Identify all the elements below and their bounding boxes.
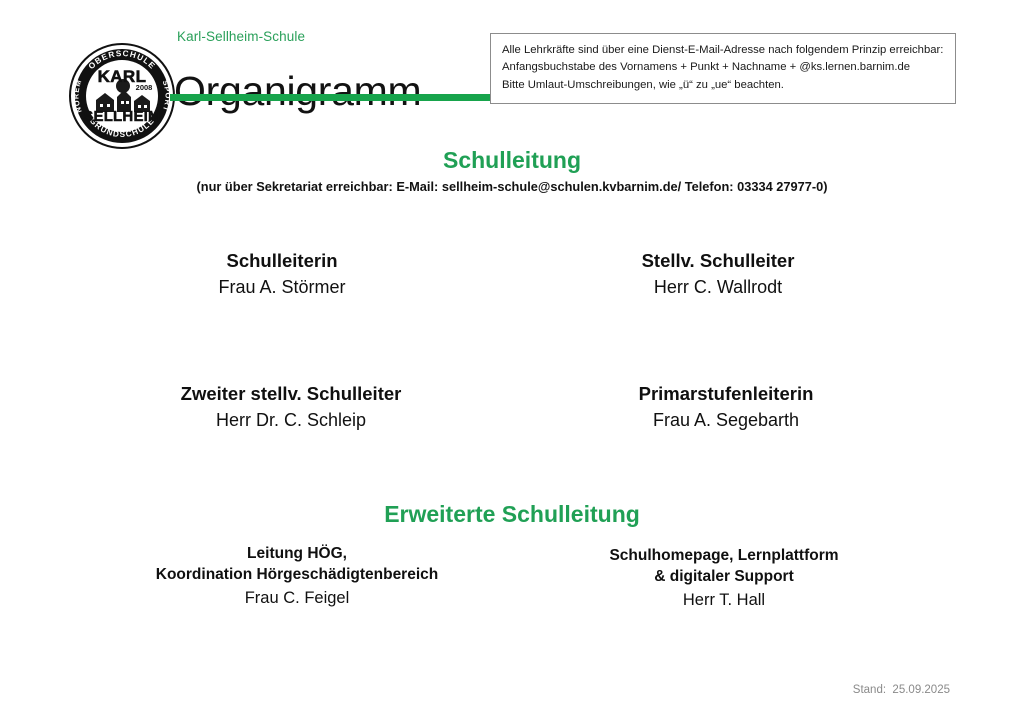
role-person: Frau C. Feigel xyxy=(156,587,438,609)
role-title: Primarstufenleiterin xyxy=(639,383,814,405)
page-title: Organigramm xyxy=(174,71,421,112)
role-title: Schulleiterin xyxy=(218,250,345,272)
role-person: Herr T. Hall xyxy=(609,589,838,611)
info-line-3: Bitte Umlaut-Umschreibungen, wie „ü“ zu … xyxy=(502,77,944,94)
role-title-line-1: Leitung HÖG, xyxy=(156,544,438,565)
schulleitung-contact-line: (nur über Sekretariat erreichbar: E-Mail… xyxy=(0,179,1024,194)
organigramm-page: OBERSCHULE GRUNDSCHULE NOREM SPORT xyxy=(0,0,1024,724)
role-stellv-schulleiter: Stellv. Schulleiter Herr C. Wallrodt xyxy=(642,250,795,299)
role-person: Herr Dr. C. Schleip xyxy=(181,408,402,432)
email-convention-info-box: Alle Lehrkräfte sind über eine Dienst-E-… xyxy=(490,33,956,104)
role-zweiter-stellv-schulleiter: Zweiter stellv. Schulleiter Herr Dr. C. … xyxy=(181,383,402,432)
school-name: Karl-Sellheim-Schule xyxy=(177,29,305,44)
role-title: Stellv. Schulleiter xyxy=(642,250,795,272)
school-seal-logo: OBERSCHULE GRUNDSCHULE NOREM SPORT xyxy=(68,42,176,150)
role-title-line-2: Koordination Hörgeschädigtenbereich xyxy=(156,565,438,586)
role-schulhomepage-support: Schulhomepage, Lernplattform & digitaler… xyxy=(609,546,838,611)
info-line-2: Anfangsbuchstabe des Vornamens + Punkt +… xyxy=(502,59,944,76)
role-leitung-hoeg: Leitung HÖG, Koordination Hörgeschädigte… xyxy=(156,544,438,609)
info-line-1: Alle Lehrkräfte sind über eine Dienst-E-… xyxy=(502,42,944,59)
role-title: Zweiter stellv. Schulleiter xyxy=(181,383,402,405)
role-title-line-1: Schulhomepage, Lernplattform xyxy=(609,546,838,567)
role-title-line-2: & digitaler Support xyxy=(609,567,838,588)
section-heading-erweiterte-schulleitung: Erweiterte Schulleitung xyxy=(0,501,1024,528)
role-schulleiterin: Schulleiterin Frau A. Störmer xyxy=(218,250,345,299)
role-person: Frau A. Segebarth xyxy=(639,408,814,432)
section-heading-schulleitung: Schulleitung xyxy=(0,147,1024,174)
role-primarstufenleiterin: Primarstufenleiterin Frau A. Segebarth xyxy=(639,383,814,432)
footer-date-stamp: Stand: 25.09.2025 xyxy=(853,684,950,696)
svg-text:SELLHEIM: SELLHEIM xyxy=(83,108,160,125)
role-person: Herr C. Wallrodt xyxy=(642,275,795,299)
role-person: Frau A. Störmer xyxy=(218,275,345,299)
svg-text:2008: 2008 xyxy=(136,83,153,92)
